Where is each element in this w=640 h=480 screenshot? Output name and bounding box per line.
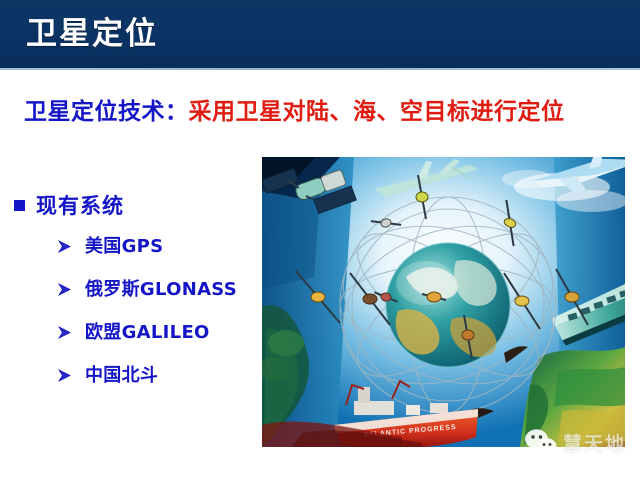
slide-root: 卫星定位 卫星定位技术：采用卫星对陆、海、空目标进行定位 现有系统 美国GPS … [0, 0, 640, 480]
subtitle-red-text: 采用卫星对陆、海、空目标进行定位 [189, 99, 565, 125]
list-item-label: 美国GPS [85, 232, 163, 258]
subtitle: 卫星定位技术：采用卫星对陆、海、空目标进行定位 [24, 96, 624, 128]
page-title: 卫星定位 [26, 12, 158, 56]
list-item-glonass: 俄罗斯GLONASS [58, 275, 262, 301]
square-bullet-icon [14, 200, 25, 211]
list-item-galileo: 欧盟GALILEO [58, 318, 262, 344]
arrow-bullet-icon [58, 369, 73, 382]
bullet-item-label: 现有系统 [36, 190, 124, 220]
list-item-label: 欧盟GALILEO [85, 318, 210, 344]
list-item-label: 中国北斗 [85, 361, 158, 387]
arrow-bullet-icon [58, 326, 73, 339]
bullet-list: 现有系统 美国GPS 俄罗斯GLONASS 欧盟GALILEO [0, 190, 262, 404]
list-item-label: 俄罗斯GLONASS [85, 275, 237, 301]
list-item-gps: 美国GPS [58, 232, 262, 258]
subtitle-blue-text: 卫星定位技术： [24, 99, 189, 125]
arrow-bullet-icon [58, 283, 73, 296]
arrow-bullet-icon [58, 240, 73, 253]
title-divider [0, 68, 640, 70]
list-item-beidou: 中国北斗 [58, 361, 262, 387]
bullet-item-existing-systems: 现有系统 [14, 190, 262, 220]
satellite-constellation-image: ATLANTIC PROGRESS [262, 157, 625, 447]
bullet-sub-list: 美国GPS 俄罗斯GLONASS 欧盟GALILEO 中国北斗 [0, 232, 262, 387]
